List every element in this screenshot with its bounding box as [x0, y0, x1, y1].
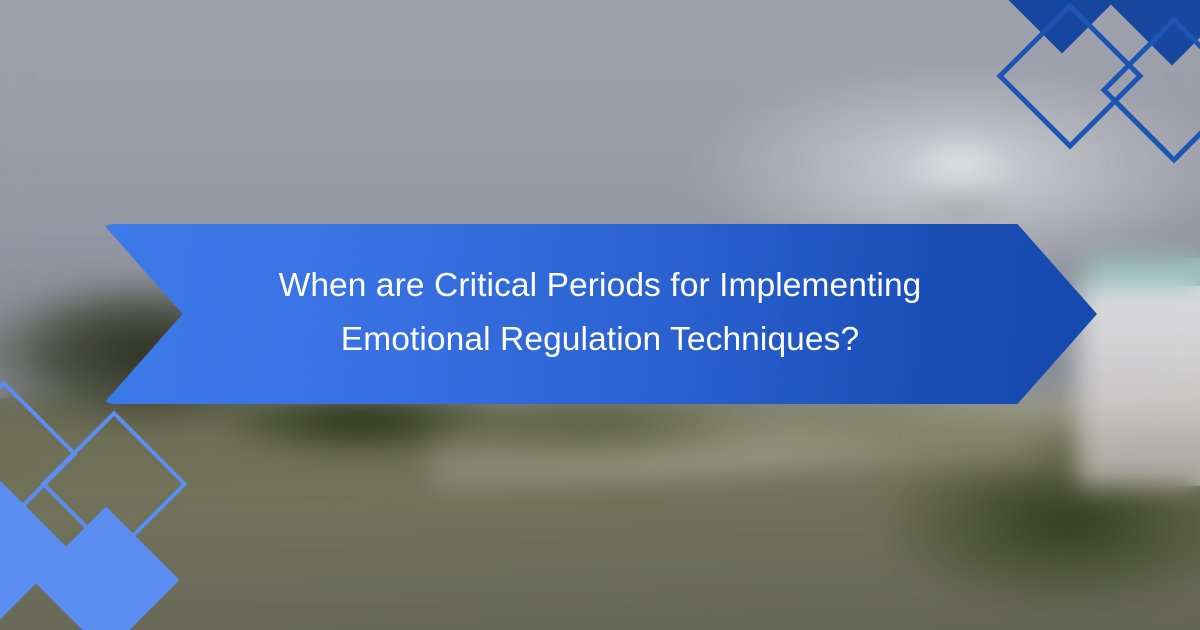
deco-outline-square-2: [40, 410, 187, 557]
deco-outline-square-2: [1100, 16, 1200, 163]
title-ribbon: When are Critical Periods for Implementi…: [103, 224, 1097, 404]
share-card-canvas: When are Critical Periods for Implementi…: [0, 0, 1200, 630]
decoration-top-right: [1000, 0, 1200, 200]
decoration-bottom-left: [0, 410, 220, 630]
page-title-line-2: Emotional Regulation Techniques?: [279, 313, 922, 367]
page-title: When are Critical Periods for Implementi…: [279, 259, 922, 370]
page-title-line-1: When are Critical Periods for Implementi…: [279, 259, 922, 313]
